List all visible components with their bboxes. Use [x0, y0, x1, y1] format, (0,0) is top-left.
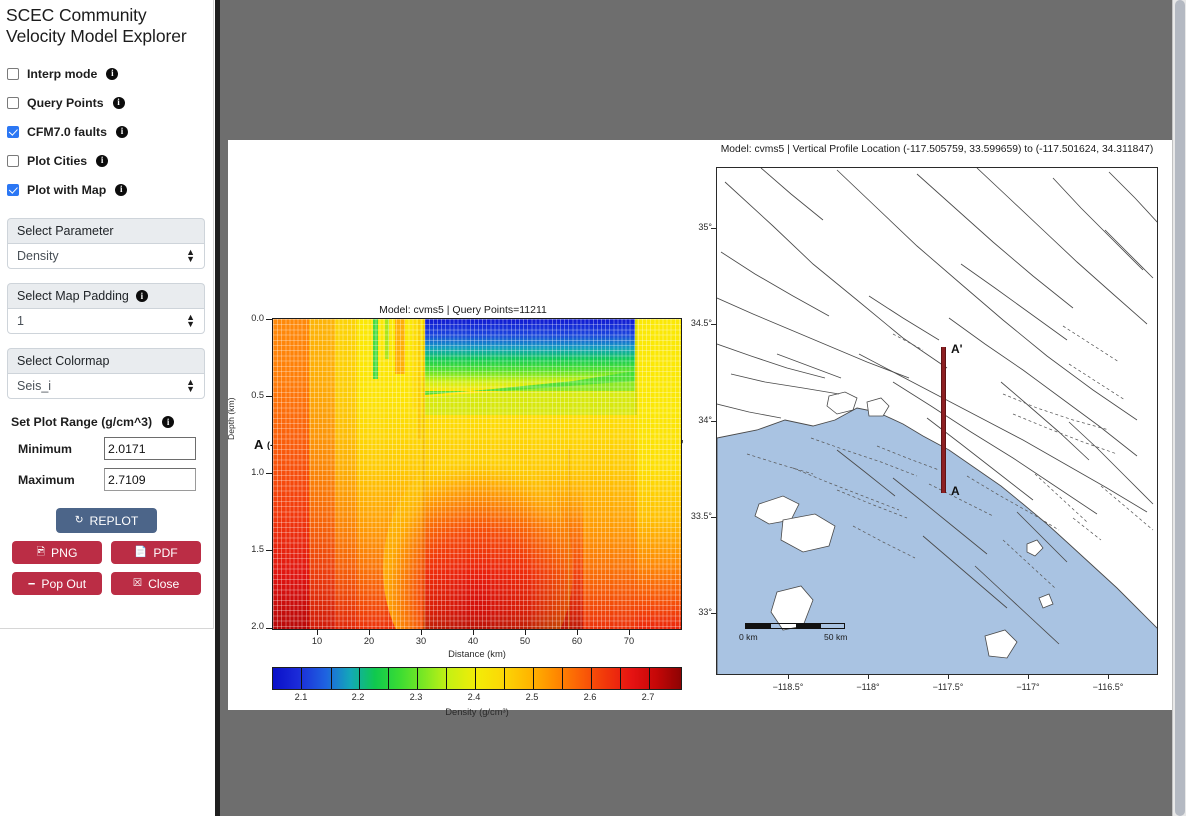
y-axis-label: Depth (km) — [226, 398, 236, 441]
replot-button-label: REPLOT — [90, 514, 139, 528]
map-profile-end-label: A' — [951, 342, 963, 356]
select-header-map-padding: Select Map Padding i — [7, 283, 205, 308]
colorbar-divider-10 — [591, 668, 592, 689]
vertical-profile-chart: Model: cvms5 | Query Points=11211 A (-11… — [228, 140, 698, 710]
checkbox-query-points[interactable]: Query Points i — [7, 88, 213, 117]
map-lat-tickmark-1 — [711, 324, 716, 325]
colorbar-divider-8 — [533, 668, 534, 689]
colorbar-tick-0: 2.1 — [286, 692, 316, 702]
colorbar-divider-2 — [359, 668, 360, 689]
page-title: SCEC Community Velocity Model Explorer — [0, 0, 213, 46]
y-tickmark-0 — [266, 319, 272, 320]
info-icon-query-points[interactable]: i — [113, 97, 125, 109]
popout-window-icon: 🗕 — [28, 578, 35, 589]
colorbar-divider-11 — [620, 668, 621, 689]
plot-range-title: Set Plot Range (g/cm^3) i — [11, 415, 213, 429]
map-lat-tickmark-2 — [711, 421, 716, 422]
colorbar-tick-6: 2.7 — [633, 692, 663, 702]
map-lon-tick-2: −117.5° — [928, 682, 968, 692]
checkbox-input-plot-cities[interactable] — [7, 155, 19, 167]
minimum-label: Minimum — [18, 442, 104, 456]
select-value-map-padding: 1 — [17, 314, 24, 328]
location-map-panel: Model: cvms5 | Vertical Profile Location… — [698, 140, 1176, 710]
select-value-parameter: Density — [17, 249, 59, 263]
x-tick-4: 50 — [510, 636, 540, 646]
x-tickmark-6 — [629, 630, 630, 635]
checkbox-label-plot-with-map: Plot with Map — [27, 183, 106, 197]
select-header-label-parameter: Select Parameter — [17, 224, 114, 238]
vertical-profile-title: Model: cvms5 | Query Points=11211 — [228, 304, 698, 316]
select-parameter[interactable]: Density ▲▼ — [7, 243, 205, 269]
chevron-updown-icon-colormap: ▲▼ — [186, 379, 195, 393]
select-header-parameter: Select Parameter — [7, 218, 205, 243]
map-lon-tickmark-3 — [1028, 674, 1029, 679]
pop-out-button-label: Pop Out — [41, 577, 86, 591]
viewer-left-edge — [215, 0, 220, 816]
map-lat-tickmark-3 — [711, 517, 716, 518]
export-button-row: 🖻 PNG 📄 PDF — [0, 541, 213, 564]
map-lon-tickmark-4 — [1108, 674, 1109, 679]
x-tickmark-4 — [525, 630, 526, 635]
colorbar — [272, 667, 682, 690]
plot-range-maximum-row: Maximum — [18, 468, 213, 491]
map-lat-tick-1: 34.5° — [680, 318, 712, 328]
x-tickmark-3 — [473, 630, 474, 635]
replot-button-wrapper: ↻ REPLOT — [0, 508, 213, 533]
map-profile-start-label: A — [951, 484, 960, 498]
select-group-parameter: Select Parameter Density ▲▼ — [7, 204, 205, 269]
scale-bar-min-label: 0 km — [739, 632, 758, 642]
map-lat-tick-0: 35° — [680, 222, 712, 232]
checkbox-input-interp-mode[interactable] — [7, 68, 19, 80]
y-tick-1: 0.5 — [238, 390, 264, 400]
map-graphic — [717, 168, 1158, 675]
checkbox-label-cfm-faults: CFM7.0 faults — [27, 125, 107, 139]
y-tick-0: 0.0 — [238, 313, 264, 323]
checkbox-input-query-points[interactable] — [7, 97, 19, 109]
colorbar-label: Density (g/cm³) — [272, 706, 682, 717]
map-lat-tickmark-0 — [711, 228, 716, 229]
map-lon-tickmark-1 — [868, 674, 869, 679]
close-icon: ☒ — [133, 578, 142, 589]
location-map[interactable]: A' A 0 km 50 km — [716, 167, 1158, 675]
colorbar-tick-1: 2.2 — [343, 692, 373, 702]
y-tick-3: 1.5 — [238, 544, 264, 554]
y-tickmark-2 — [266, 473, 272, 474]
select-value-colormap: Seis_i — [17, 379, 51, 393]
plot-viewer-area: Model: cvms5 | Query Points=11211 A (-11… — [215, 0, 1186, 816]
replot-button[interactable]: ↻ REPLOT — [56, 508, 157, 533]
x-tickmark-0 — [317, 630, 318, 635]
select-header-label-colormap: Select Colormap — [17, 354, 109, 368]
checkbox-label-interp-mode: Interp mode — [27, 67, 97, 81]
colorbar-divider-0 — [301, 668, 302, 689]
x-tick-2: 30 — [406, 636, 436, 646]
info-icon-cfm-faults[interactable]: i — [116, 126, 128, 138]
image-icon: 🖻 — [37, 547, 45, 558]
profile-endpoint-a-label: A — [254, 437, 263, 452]
checkbox-cfm-faults[interactable]: CFM7.0 faults i — [7, 117, 213, 146]
x-tick-0: 10 — [302, 636, 332, 646]
checkbox-plot-with-map[interactable]: Plot with Map i — [7, 175, 213, 204]
scale-bar — [745, 623, 845, 629]
maximum-input[interactable] — [104, 468, 196, 491]
colorbar-divider-5 — [446, 668, 447, 689]
sidebar-panel: SCEC Community Velocity Model Explorer I… — [0, 0, 214, 629]
map-lat-tick-3: 33.5° — [680, 511, 712, 521]
png-button[interactable]: 🖻 PNG — [12, 541, 102, 564]
density-heatmap — [272, 318, 682, 630]
colorbar-tick-2: 2.3 — [401, 692, 431, 702]
plot-range-minimum-row: Minimum — [18, 437, 213, 460]
checkbox-list: Interp mode i Query Points i CFM7.0 faul… — [0, 59, 213, 204]
colorbar-tick-4: 2.5 — [517, 692, 547, 702]
heatmap-image — [273, 319, 682, 630]
x-tick-3: 40 — [458, 636, 488, 646]
select-colormap[interactable]: Seis_i ▲▼ — [7, 373, 205, 399]
colorbar-divider-3 — [388, 668, 389, 689]
colorbar-divider-6 — [475, 668, 476, 689]
colorbar-divider-1 — [331, 668, 332, 689]
cvm-explorer-app: SCEC Community Velocity Model Explorer I… — [0, 0, 1200, 816]
map-lon-tickmark-2 — [948, 674, 949, 679]
y-tick-2: 1.0 — [238, 467, 264, 477]
plot-canvas: Model: cvms5 | Query Points=11211 A (-11… — [228, 140, 1176, 710]
x-tick-1: 20 — [354, 636, 384, 646]
info-icon-plot-cities[interactable]: i — [96, 155, 108, 167]
map-lon-tick-3: −117° — [1008, 682, 1048, 692]
profile-line — [941, 347, 946, 493]
vertical-scrollbar[interactable] — [1172, 0, 1186, 816]
maximum-label: Maximum — [18, 473, 104, 487]
png-button-label: PNG — [51, 546, 77, 560]
x-tick-5: 60 — [562, 636, 592, 646]
select-group-colormap: Select Colormap Seis_i ▲▼ — [7, 334, 205, 399]
map-lat-tickmark-4 — [711, 613, 716, 614]
colorbar-divider-9 — [562, 668, 563, 689]
colorbar-tick-5: 2.6 — [575, 692, 605, 702]
select-header-label-map-padding: Select Map Padding — [17, 289, 129, 303]
sidebar: SCEC Community Velocity Model Explorer I… — [0, 0, 215, 816]
x-tickmark-2 — [421, 630, 422, 635]
map-lon-tickmark-0 — [788, 674, 789, 679]
colorbar-divider-4 — [417, 668, 418, 689]
x-tick-6: 70 — [614, 636, 644, 646]
minimum-input[interactable] — [104, 437, 196, 460]
pdf-button[interactable]: 📄 PDF — [111, 541, 201, 564]
select-map-padding[interactable]: 1 ▲▼ — [7, 308, 205, 334]
scrollbar-thumb[interactable] — [1175, 0, 1185, 816]
map-lon-tick-1: −118° — [848, 682, 888, 692]
close-button[interactable]: ☒ Close — [111, 572, 201, 595]
info-icon-plot-range[interactable]: i — [162, 416, 174, 428]
x-tickmark-5 — [577, 630, 578, 635]
map-lat-tick-2: 34° — [680, 415, 712, 425]
colorbar-tick-3: 2.4 — [459, 692, 489, 702]
info-icon-interp-mode[interactable]: i — [106, 68, 118, 80]
checkbox-input-cfm-faults[interactable] — [7, 126, 19, 138]
pdf-file-icon: 📄 — [134, 547, 147, 558]
y-tickmark-3 — [266, 550, 272, 551]
x-axis-label: Distance (km) — [272, 648, 682, 659]
checkbox-label-plot-cities: Plot Cities — [27, 154, 87, 168]
pop-out-button[interactable]: 🗕 Pop Out — [12, 572, 102, 595]
plot-range-title-label: Set Plot Range (g/cm^3) — [11, 415, 152, 429]
colorbar-divider-7 — [504, 668, 505, 689]
colorbar-divider-12 — [649, 668, 650, 689]
map-lon-tick-0: −118.5° — [768, 682, 808, 692]
info-icon-map-padding[interactable]: i — [136, 290, 148, 302]
chevron-updown-icon-parameter: ▲▼ — [186, 249, 195, 263]
scale-bar-max-label: 50 km — [824, 632, 847, 642]
checkbox-label-query-points: Query Points — [27, 96, 104, 110]
y-tickmark-1 — [266, 396, 272, 397]
select-group-map-padding: Select Map Padding i 1 ▲▼ — [7, 269, 205, 334]
select-header-colormap: Select Colormap — [7, 348, 205, 373]
chevron-updown-icon-map-padding: ▲▼ — [186, 314, 195, 328]
close-button-label: Close — [148, 577, 179, 591]
map-lat-tick-4: 33° — [680, 607, 712, 617]
location-map-title: Model: cvms5 | Vertical Profile Location… — [698, 144, 1176, 155]
y-tick-4: 2.0 — [238, 621, 264, 631]
y-tickmark-4 — [266, 628, 272, 629]
pdf-button-label: PDF — [153, 546, 177, 560]
checkbox-interp-mode[interactable]: Interp mode i — [7, 59, 213, 88]
checkbox-plot-cities[interactable]: Plot Cities i — [7, 146, 213, 175]
checkbox-input-plot-with-map[interactable] — [7, 184, 19, 196]
refresh-icon: ↻ — [75, 515, 84, 526]
map-lon-tick-4: −116.5° — [1088, 682, 1128, 692]
info-icon-plot-with-map[interactable]: i — [115, 184, 127, 196]
x-tickmark-1 — [369, 630, 370, 635]
window-button-row: 🗕 Pop Out ☒ Close — [0, 572, 213, 595]
